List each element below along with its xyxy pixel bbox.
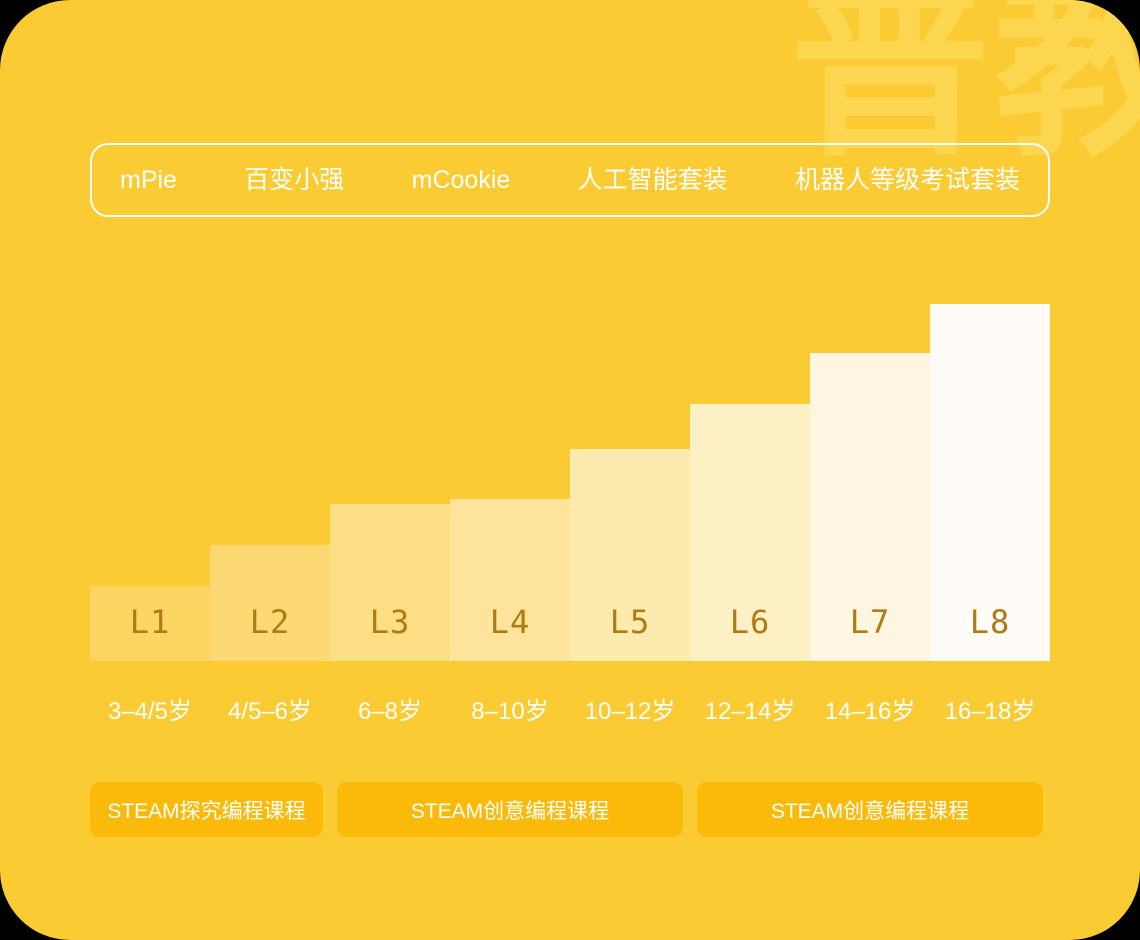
age-label-l5: 10–12岁 <box>570 700 690 724</box>
nav-item-mcookie[interactable]: mCookie <box>412 168 511 193</box>
bar-l5[interactable]: L5 <box>570 449 690 661</box>
nav-item-mpie[interactable]: mPie <box>120 168 177 193</box>
age-label-l2: 4/5–6岁 <box>210 700 330 724</box>
product-nav-pill: mPie 百变小强 mCookie 人工智能套装 机器人等级考试套装 <box>90 143 1050 217</box>
bar-l4[interactable]: L4 <box>450 499 570 661</box>
age-label-l6: 12–14岁 <box>690 700 810 724</box>
bar-l8[interactable]: L8 <box>930 304 1050 661</box>
course-button-3[interactable]: STEAM创意编程课程 <box>697 782 1043 837</box>
age-label-l8: 16–18岁 <box>930 700 1050 724</box>
bar-l2[interactable]: L2 <box>210 545 330 661</box>
bar-l1[interactable]: L1 <box>90 586 210 661</box>
bar-label: L4 <box>490 606 531 661</box>
age-label-l4: 8–10岁 <box>450 700 570 724</box>
bar-label: L3 <box>370 606 411 661</box>
age-label-l7: 14–16岁 <box>810 700 930 724</box>
course-level-card: 普教 mPie 百变小强 mCookie 人工智能套装 机器人等级考试套装 L1… <box>0 0 1140 940</box>
nav-item-baibianxiaoqiang[interactable]: 百变小强 <box>244 168 344 193</box>
bar-l7[interactable]: L7 <box>810 353 930 661</box>
bar-label: L2 <box>250 606 291 661</box>
nav-item-robot-exam-kit[interactable]: 机器人等级考试套装 <box>795 168 1020 193</box>
bar-label: L8 <box>970 606 1011 661</box>
course-button-gap <box>683 782 697 837</box>
bar-label: L5 <box>610 606 651 661</box>
nav-item-ai-kit[interactable]: 人工智能套装 <box>578 168 728 193</box>
age-range-axis: 3–4/5岁4/5–6岁6–8岁8–10岁10–12岁12–14岁14–16岁1… <box>90 700 1050 724</box>
course-button-gap <box>323 782 337 837</box>
bar-label: L6 <box>730 606 771 661</box>
course-button-2[interactable]: STEAM创意编程课程 <box>337 782 683 837</box>
course-button-1[interactable]: STEAM探究编程课程 <box>90 782 323 837</box>
course-button-row: STEAM探究编程课程STEAM创意编程课程STEAM创意编程课程 <box>90 782 1050 837</box>
level-bar-chart: L1L2L3L4L5L6L7L8 <box>90 290 1050 661</box>
bar-l3[interactable]: L3 <box>330 504 450 661</box>
bar-label: L7 <box>850 606 891 661</box>
age-label-l1: 3–4/5岁 <box>90 700 210 724</box>
bar-l6[interactable]: L6 <box>690 404 810 661</box>
bar-label: L1 <box>130 606 171 661</box>
age-label-l3: 6–8岁 <box>330 700 450 724</box>
